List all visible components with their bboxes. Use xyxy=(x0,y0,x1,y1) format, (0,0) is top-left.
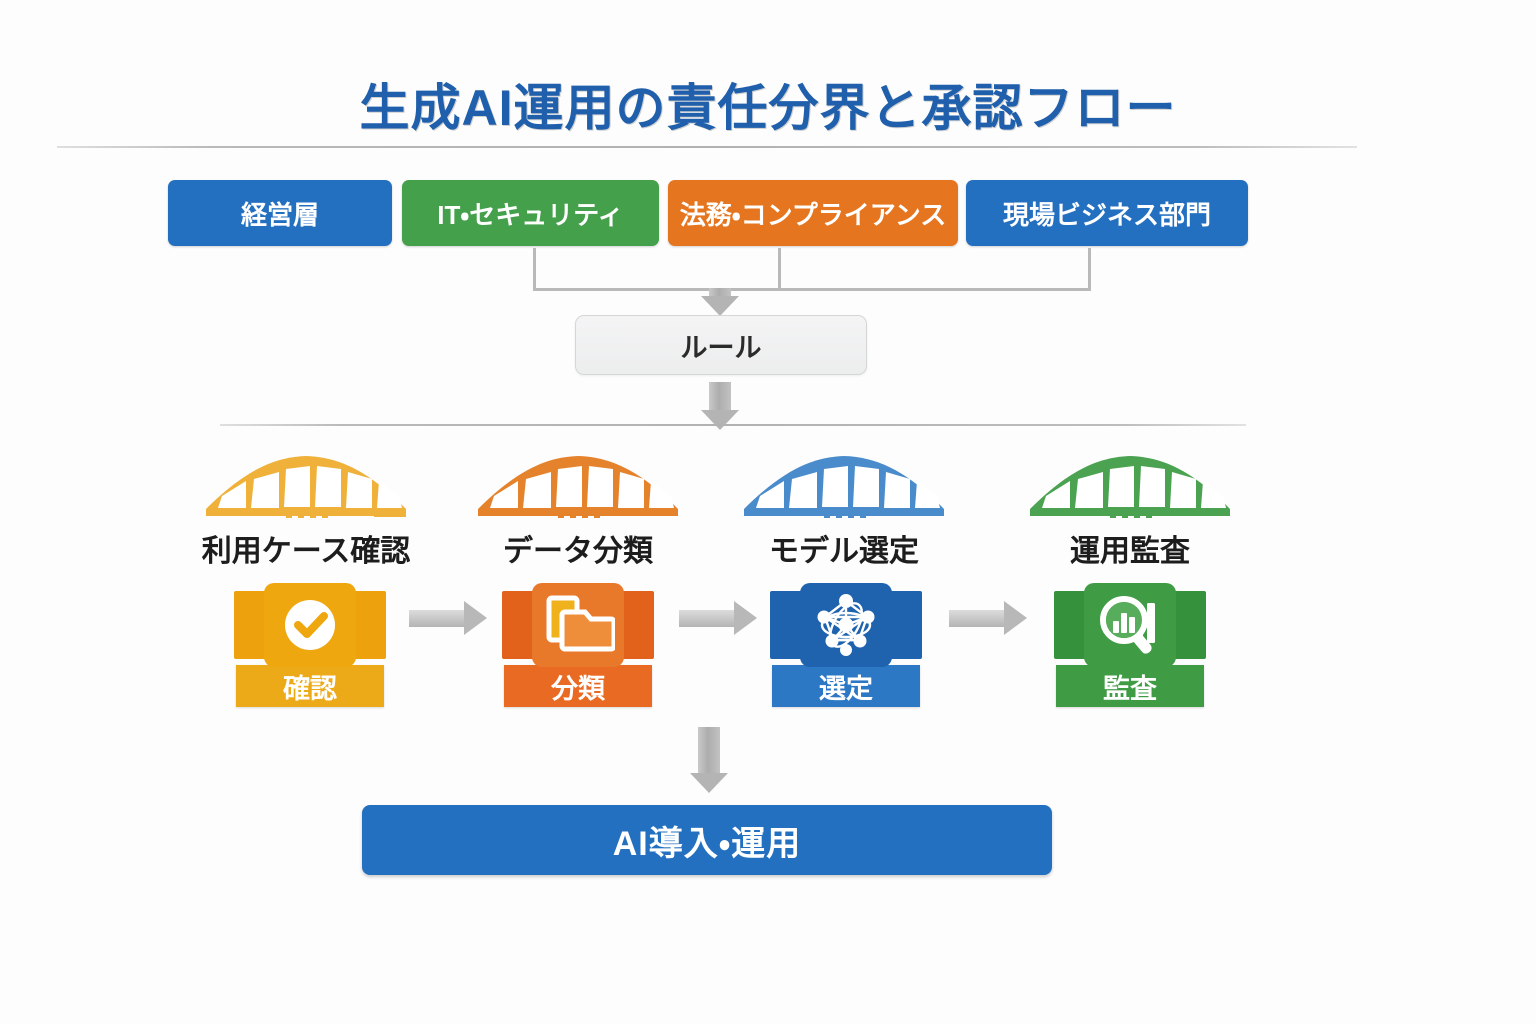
stakeholder-chip-business-unit[interactable]: 現場ビジネス部門 xyxy=(966,180,1248,246)
bracket-drop-left xyxy=(533,248,536,290)
arrow-step2-to-step3 xyxy=(679,601,757,635)
icon-block-audit[interactable]: 監査 xyxy=(1025,583,1235,707)
process-step-operation-audit[interactable]: 運用監査 xyxy=(1014,452,1246,570)
stakeholder-chip-executive[interactable]: 経営層 xyxy=(168,180,392,246)
status-badge: 分類 xyxy=(504,665,652,707)
arrow-step1-to-step2 xyxy=(409,601,487,635)
bridge-icon xyxy=(204,452,409,522)
icon-art xyxy=(1037,583,1223,659)
bridge-icon xyxy=(1028,452,1233,522)
process-step-row: 利用ケース確認 データ分類 xyxy=(0,452,1536,572)
arrow-head xyxy=(1004,601,1027,635)
process-step-label: モデル選定 xyxy=(728,526,960,570)
divider-middle xyxy=(220,424,1246,426)
process-step-usecase[interactable]: 利用ケース確認 xyxy=(190,452,422,570)
stakeholder-chip-label: 法務・コンプライアンス xyxy=(680,195,947,232)
arrow-head xyxy=(701,410,739,430)
icon-art xyxy=(217,583,403,659)
stakeholder-row: 経営層 IT・セキュリティ 法務・コンプライアンス 現場ビジネス部門 xyxy=(0,180,1536,248)
page-title: 生成AI運用の責任分界と承認フロー xyxy=(0,68,1536,140)
stakeholder-chip-label: 現場ビジネス部門 xyxy=(1003,195,1211,232)
neural-network-icon xyxy=(811,592,881,658)
chart-search-icon xyxy=(1095,593,1165,657)
icon-block-classify[interactable]: 分類 xyxy=(473,583,683,707)
arrow-shaft xyxy=(709,382,731,412)
result-bar[interactable]: AI導入・運用 xyxy=(362,805,1052,875)
arrow-shaft xyxy=(949,610,1005,627)
bridge-icon xyxy=(742,452,947,522)
process-step-data-classification[interactable]: データ分類 xyxy=(462,452,694,570)
status-badge-label: 監査 xyxy=(1103,667,1157,706)
arrow-head xyxy=(701,296,739,316)
arrow-to-result xyxy=(687,727,731,799)
arrow-shaft xyxy=(409,610,465,627)
slide-canvas: 生成AI運用の責任分界と承認フロー 経営層 IT・セキュリティ 法務・コンプライ… xyxy=(0,0,1536,1024)
icon-block-confirm[interactable]: 確認 xyxy=(205,583,415,707)
icon-plate xyxy=(1084,583,1176,667)
icon-plate xyxy=(264,583,356,667)
process-step-label: 利用ケース確認 xyxy=(190,526,422,570)
bridge-icon xyxy=(476,452,681,522)
bracket-connector xyxy=(0,248,1536,300)
bracket-drop-right xyxy=(1088,248,1091,290)
arrow-head xyxy=(464,601,487,635)
bracket-drop-middle xyxy=(778,248,781,290)
arrow-shaft xyxy=(679,610,735,627)
stakeholder-chip-label: IT・セキュリティ xyxy=(437,195,623,232)
rule-box-label: ルール xyxy=(681,326,762,365)
arrow-head xyxy=(690,773,728,793)
arrow-head xyxy=(734,601,757,635)
folder-icon xyxy=(541,594,615,656)
status-badge-label: 分類 xyxy=(551,667,605,706)
process-step-label: 運用監査 xyxy=(1014,526,1246,570)
check-circle-icon xyxy=(279,594,341,656)
rule-box[interactable]: ルール xyxy=(575,315,867,375)
process-step-model-selection[interactable]: モデル選定 xyxy=(728,452,960,570)
arrow-rule-to-process xyxy=(700,382,740,434)
stakeholder-chip-legal-compliance[interactable]: 法務・コンプライアンス xyxy=(668,180,958,246)
stakeholder-chip-label: 経営層 xyxy=(241,195,319,232)
icon-art xyxy=(753,583,939,659)
process-step-label: データ分類 xyxy=(462,526,694,570)
stakeholder-chip-it-security[interactable]: IT・セキュリティ xyxy=(402,180,659,246)
status-badge: 監査 xyxy=(1056,665,1204,707)
process-icon-row: 確認 分類 xyxy=(0,583,1536,723)
icon-block-select[interactable]: 選定 xyxy=(741,583,951,707)
icon-plate xyxy=(800,583,892,667)
divider-top xyxy=(57,146,1357,148)
result-bar-label: AI導入・運用 xyxy=(613,816,802,865)
icon-plate xyxy=(532,583,624,667)
status-badge: 選定 xyxy=(772,665,920,707)
status-badge: 確認 xyxy=(236,665,384,707)
arrow-step3-to-step4 xyxy=(949,601,1027,635)
bracket-horizontal-bar xyxy=(533,288,1091,291)
status-badge-label: 確認 xyxy=(283,667,337,706)
arrow-to-rule xyxy=(700,288,740,316)
arrow-shaft xyxy=(698,727,720,775)
status-badge-label: 選定 xyxy=(819,667,873,706)
icon-art xyxy=(485,583,671,659)
